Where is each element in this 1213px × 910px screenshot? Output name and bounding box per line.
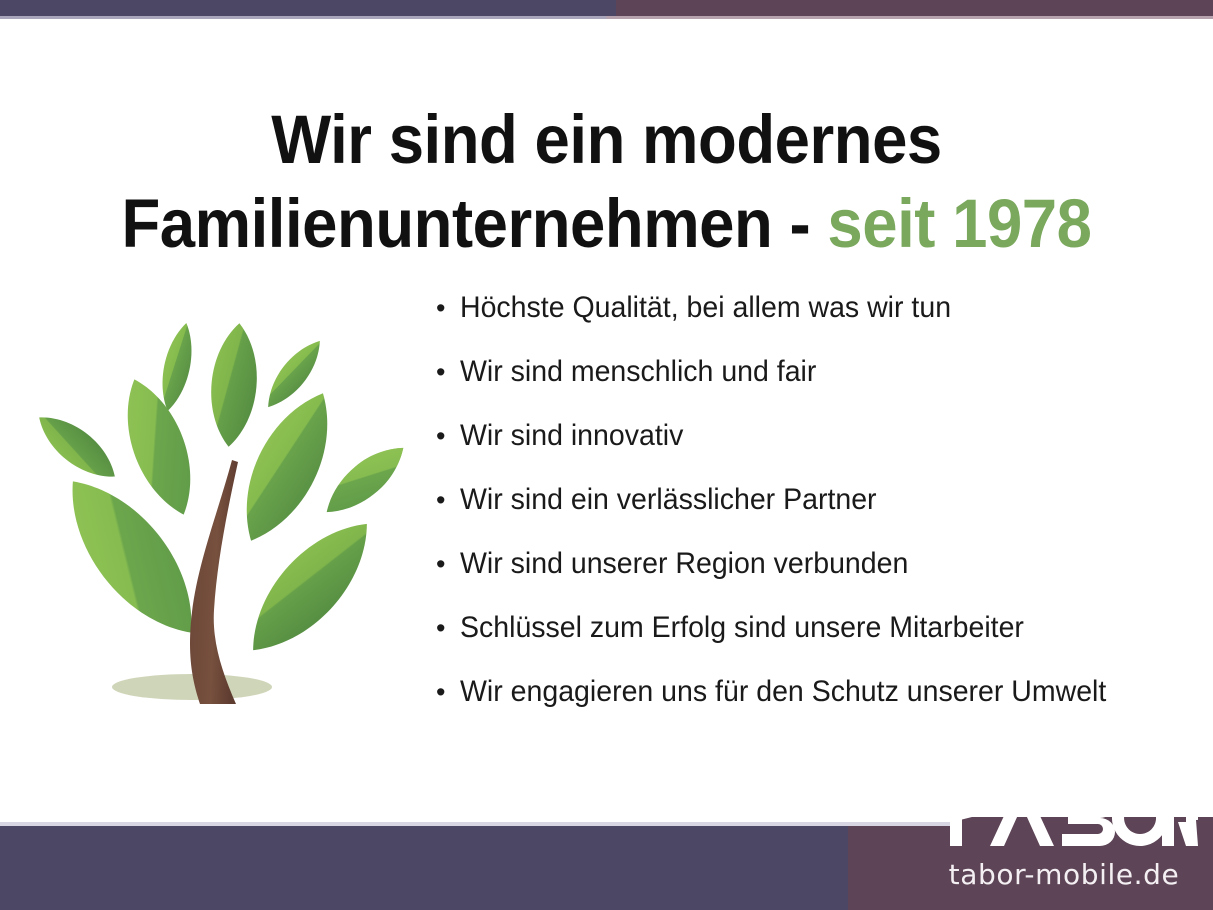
bullet-marker-icon: • <box>430 288 460 328</box>
leaf-cluster <box>29 320 414 670</box>
leaf-left-small <box>29 404 125 489</box>
bullet-marker-icon: • <box>430 608 460 648</box>
bullet-marker-icon: • <box>430 672 460 712</box>
page-title: Wir sind ein modernes Familienunternehme… <box>104 98 1110 266</box>
slide-canvas: Wir sind ein modernes Familienunternehme… <box>0 0 1213 910</box>
list-item-label: Wir engagieren uns für den Schutz unsere… <box>460 672 1106 712</box>
list-item: • Wir engagieren uns für den Schutz unse… <box>430 672 1200 736</box>
ground-shadow <box>112 674 272 700</box>
top-bar-hairline <box>0 16 1213 19</box>
list-item-label: Wir sind unserer Region verbunden <box>460 544 908 584</box>
tree-illustration <box>22 312 422 730</box>
bullet-marker-icon: • <box>430 480 460 520</box>
top-decorative-bar <box>0 0 1213 16</box>
headline-line-2-prefix: Familienunternehmen - <box>121 185 827 262</box>
leaf-upper-left <box>110 371 207 524</box>
list-item-label: Schlüssel zum Erfolg sind unsere Mitarbe… <box>460 608 1024 648</box>
headline-accent-year: seit 1978 <box>827 185 1091 262</box>
list-item: • Wir sind unserer Region verbunden <box>430 544 1200 608</box>
tree-trunk <box>190 460 238 704</box>
top-bar-right-segment <box>616 0 1213 16</box>
list-item: • Wir sind ein verlässlicher Partner <box>430 480 1200 544</box>
list-item: • Wir sind innovativ <box>430 416 1200 480</box>
tree-svg <box>22 312 422 730</box>
leaf-top-small-left <box>155 320 199 413</box>
leaf-top-center <box>206 321 262 448</box>
bullet-marker-icon: • <box>430 416 460 456</box>
tabor-logo <box>928 790 1198 846</box>
headline-line-2: Familienunternehmen - seit 1978 <box>104 182 1110 266</box>
bullet-marker-icon: • <box>430 544 460 584</box>
headline-line-1: Wir sind ein modernes <box>271 101 942 178</box>
tabor-letters <box>928 790 1198 846</box>
website-url: tabor-mobile.de <box>928 858 1200 892</box>
leaf-right-small <box>316 435 414 525</box>
top-bar-left-segment <box>0 0 616 16</box>
list-item: • Schlüssel zum Erfolg sind unsere Mitar… <box>430 608 1200 672</box>
list-item: • Wir sind menschlich und fair <box>430 352 1200 416</box>
list-item-label: Wir sind ein verlässlicher Partner <box>460 480 877 520</box>
tabor-wordmark-svg <box>928 790 1198 846</box>
list-item-label: Wir sind innovativ <box>460 416 683 456</box>
value-bullet-list: • Höchste Qualität, bei allem was wir tu… <box>430 288 1200 736</box>
list-item: • Höchste Qualität, bei allem was wir tu… <box>430 288 1200 352</box>
list-item-label: Wir sind menschlich und fair <box>460 352 816 392</box>
bullet-marker-icon: • <box>430 352 460 392</box>
list-item-label: Höchste Qualität, bei allem was wir tun <box>460 288 951 328</box>
